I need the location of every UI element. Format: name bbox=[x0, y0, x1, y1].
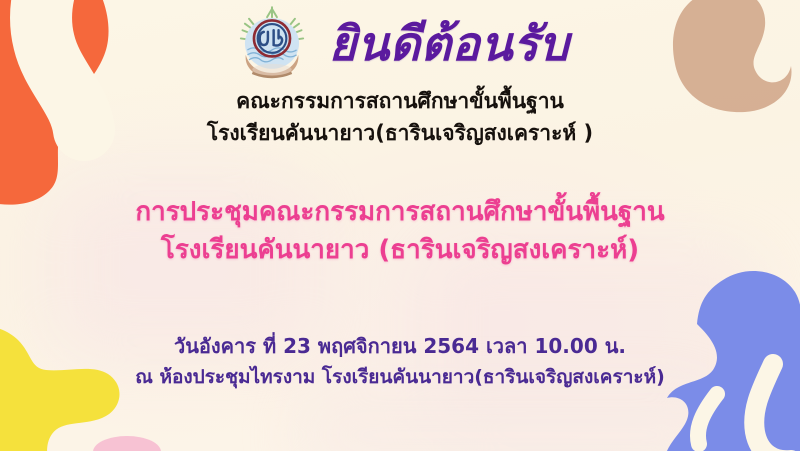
meeting-venue: ณ ห้องประชุมไทรงาม โรงเรียนคันนายาว(ธาริ… bbox=[0, 362, 800, 393]
welcome-title: ยินดีต้อนรับ bbox=[329, 20, 569, 69]
organization-line-2: โรงเรียนคันนายาว(ธารินเจริญสงเคราะห์ ) bbox=[0, 118, 800, 150]
welcome-poster: ยินดีต้อนรับ คณะกรรมการสถานศึกษาขั้นพื้น… bbox=[0, 0, 800, 451]
meeting-date-time: วันอังคาร ที่ 23 พฤศจิกายน 2564 เวลา 10.… bbox=[0, 330, 800, 362]
meeting-title-line-1: การประชุมคณะกรรมการสถานศึกษาขั้นพื้นฐาน bbox=[0, 193, 800, 231]
poster-header: ยินดีต้อนรับ bbox=[0, 4, 800, 86]
school-emblem-logo-icon bbox=[231, 4, 313, 86]
poster-content: ยินดีต้อนรับ คณะกรรมการสถานศึกษาขั้นพื้น… bbox=[0, 0, 800, 451]
meeting-title-block: การประชุมคณะกรรมการสถานศึกษาขั้นพื้นฐาน … bbox=[0, 193, 800, 270]
organization-line-1: คณะกรรมการสถานศึกษาขั้นพื้นฐาน bbox=[0, 86, 800, 118]
meeting-title-line-2: โรงเรียนคันนายาว (ธารินเจริญสงเคราะห์) bbox=[0, 231, 800, 269]
meeting-schedule-block: วันอังคาร ที่ 23 พฤศจิกายน 2564 เวลา 10.… bbox=[0, 330, 800, 393]
organization-block: คณะกรรมการสถานศึกษาขั้นพื้นฐาน โรงเรียนค… bbox=[0, 86, 800, 149]
